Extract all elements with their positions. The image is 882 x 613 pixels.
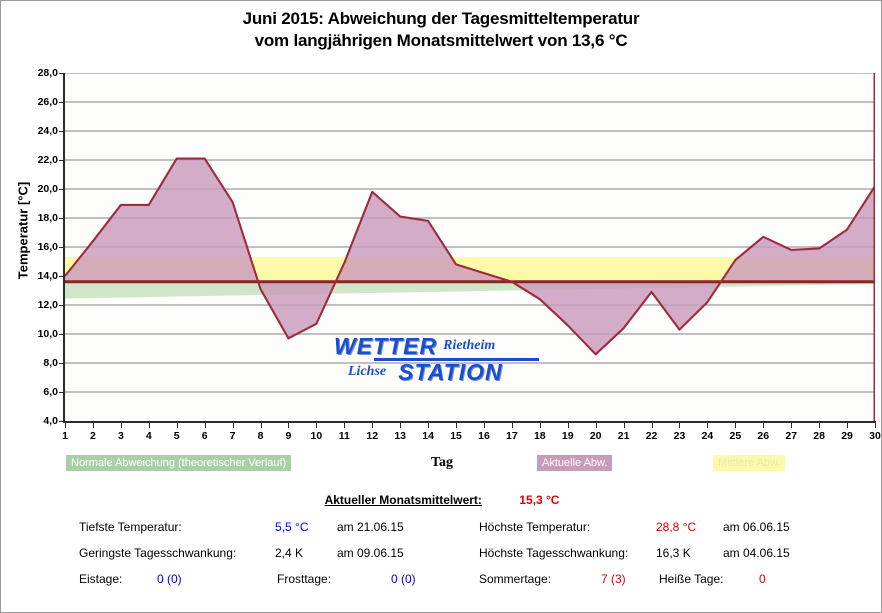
x-axis-tick: [149, 421, 150, 428]
x-axis-tick-label: 14: [422, 430, 434, 442]
y-axis-tick-label: 4,0: [43, 415, 58, 427]
y-axis-tick-label: 20,0: [38, 183, 58, 195]
x-axis-tick-label: 29: [841, 430, 853, 442]
x-axis-tick: [372, 421, 373, 428]
counters-row: Eistage: 0 (0) Frosttage: 0 (0) Sommerta…: [1, 572, 882, 598]
highest-temp-label: Höchste Temperatur:: [479, 520, 590, 534]
lowest-temp-date: am 21.06.15: [337, 520, 404, 534]
x-axis-tick: [233, 421, 234, 428]
y-axis-tick-label: 14,0: [38, 270, 58, 282]
x-axis-tick-label: 7: [230, 430, 236, 442]
x-axis-tick-label: 1: [62, 430, 68, 442]
x-axis-tick: [875, 421, 876, 428]
x-axis-tick: [652, 421, 653, 428]
x-axis-tick: [177, 421, 178, 428]
y-axis-tick: [59, 334, 65, 335]
x-axis-tick: [428, 421, 429, 428]
x-axis-tick: [512, 421, 513, 428]
chart-legend: Normale Abweichung (theoretischer Verlau…: [1, 453, 882, 477]
lowest-range-date: am 09.06.15: [337, 546, 404, 560]
x-axis-tick: [791, 421, 792, 428]
x-axis-tick: [344, 421, 345, 428]
sommertage-value: 7 (3): [601, 572, 626, 586]
title-line-2: vom langjährigen Monatsmittelwert von 13…: [1, 30, 881, 52]
statistics-panel: Aktueller Monatsmittelwert: 15,3 °C Tief…: [1, 493, 882, 598]
x-axis-tick-label: 23: [674, 430, 686, 442]
x-axis-tick-label: 22: [646, 430, 658, 442]
x-axis-tick: [624, 421, 625, 428]
x-axis-tick: [400, 421, 401, 428]
x-axis-tick: [288, 421, 289, 428]
x-axis-tick-label: 12: [366, 430, 378, 442]
lowest-temp-label: Tiefste Temperatur:: [79, 520, 182, 534]
sommertage-label: Sommertage:: [479, 572, 551, 586]
x-axis-tick: [484, 421, 485, 428]
x-axis-tick: [819, 421, 820, 428]
x-axis-tick-label: 2: [90, 430, 96, 442]
y-axis-tick: [59, 276, 65, 277]
highest-range-label: Höchste Tagesschwankung:: [479, 546, 628, 560]
y-axis-tick: [59, 189, 65, 190]
x-axis-tick: [847, 421, 848, 428]
x-axis-tick: [679, 421, 680, 428]
x-axis-tick-label: 18: [534, 430, 546, 442]
x-axis-tick-label: 21: [618, 430, 630, 442]
heisse-tage-value: 0: [759, 572, 766, 586]
chart-svg: [65, 73, 875, 421]
x-axis-tick: [540, 421, 541, 428]
x-axis-tick-label: 25: [730, 430, 742, 442]
x-axis-tick: [261, 421, 262, 428]
x-axis-tick-label: 17: [506, 430, 518, 442]
x-axis-tick-label: 10: [311, 430, 323, 442]
plot-canvas: 4,06,08,010,012,014,016,018,020,022,024,…: [63, 73, 875, 423]
x-axis-tick: [65, 421, 66, 428]
monthly-mean-label: Aktueller Monatsmittelwert:: [325, 493, 482, 507]
y-axis-tick: [59, 218, 65, 219]
highest-range-value: 16,3 K: [656, 546, 691, 560]
x-axis-tick-label: 4: [146, 430, 152, 442]
x-axis-tick-label: 30: [869, 430, 881, 442]
y-axis-tick-label: 24,0: [38, 125, 58, 137]
y-axis-tick-label: 18,0: [38, 212, 58, 224]
frosttage-label: Frosttage:: [277, 572, 331, 586]
x-axis-tick-label: 27: [785, 430, 797, 442]
x-axis-tick: [205, 421, 206, 428]
title-line-1: Juni 2015: Abweichung der Tagesmitteltem…: [1, 8, 881, 30]
x-axis-tick: [93, 421, 94, 428]
x-axis-tick-label: 3: [118, 430, 124, 442]
y-axis-tick: [59, 392, 65, 393]
page-title: Juni 2015: Abweichung der Tagesmitteltem…: [1, 1, 881, 52]
x-axis-tick: [568, 421, 569, 428]
eistage-label: Eistage:: [79, 572, 122, 586]
y-axis-tick-label: 8,0: [43, 357, 58, 369]
chart-area: Temperatur [°C] 4,06,08,010,012,014,016,…: [1, 63, 882, 443]
highest-temp-date: am 06.06.15: [723, 520, 790, 534]
x-axis-tick-label: 20: [590, 430, 602, 442]
y-axis-tick: [59, 73, 65, 74]
lowest-range-label: Geringste Tagesschwankung:: [79, 546, 236, 560]
y-axis-title: Temperatur [°C]: [16, 151, 31, 311]
legend-item-aktuelle-abweichung: Aktuelle Abw.: [537, 455, 612, 471]
legend-item-mittlere-abweichung: Mittlere Abw.: [713, 455, 785, 471]
x-axis-tick-label: 15: [450, 430, 462, 442]
eistage-value: 0 (0): [157, 572, 182, 586]
table-row: Tiefste Temperatur: 5,5 °C am 21.06.15 H…: [1, 520, 882, 546]
y-axis-tick: [59, 363, 65, 364]
x-axis-tick: [707, 421, 708, 428]
x-axis-tick-label: 19: [562, 430, 574, 442]
y-axis-tick-label: 6,0: [43, 386, 58, 398]
y-axis-tick-label: 26,0: [38, 96, 58, 108]
y-axis-tick: [59, 131, 65, 132]
y-axis-tick-label: 12,0: [38, 299, 58, 311]
y-axis-tick: [59, 247, 65, 248]
y-axis-tick-label: 28,0: [38, 67, 58, 79]
x-axis-tick-label: 6: [202, 430, 208, 442]
x-axis-tick-label: 28: [813, 430, 825, 442]
heisse-tage-label: Heiße Tage:: [659, 572, 723, 586]
lowest-range-value: 2,4 K: [275, 546, 303, 560]
monthly-mean-row: Aktueller Monatsmittelwert: 15,3 °C: [1, 493, 882, 520]
x-axis-tick: [456, 421, 457, 428]
x-axis-tick: [121, 421, 122, 428]
table-row: Geringste Tagesschwankung: 2,4 K am 09.0…: [1, 546, 882, 572]
y-axis-tick: [59, 160, 65, 161]
y-axis-tick: [59, 305, 65, 306]
y-axis-tick-label: 10,0: [38, 328, 58, 340]
x-axis-tick: [735, 421, 736, 428]
x-axis-tick-label: 16: [478, 430, 490, 442]
x-axis-tick: [596, 421, 597, 428]
x-axis-tick-label: 9: [286, 430, 292, 442]
x-axis-tick-label: 8: [258, 430, 264, 442]
highest-range-date: am 04.06.15: [723, 546, 790, 560]
x-axis-tick-label: 5: [174, 430, 180, 442]
frosttage-value: 0 (0): [391, 572, 416, 586]
x-axis-tick: [316, 421, 317, 428]
x-axis-tick-label: 11: [339, 430, 350, 442]
y-axis-tick: [59, 102, 65, 103]
x-axis-tick-label: 26: [757, 430, 769, 442]
x-axis-tick-label: 13: [394, 430, 406, 442]
monthly-mean-value: 15,3 °C: [519, 493, 559, 507]
y-axis-tick-label: 16,0: [38, 241, 58, 253]
x-axis-tick-label: 24: [702, 430, 714, 442]
x-axis-tick: [763, 421, 764, 428]
y-axis-tick-label: 22,0: [38, 154, 58, 166]
lowest-temp-value: 5,5 °C: [275, 520, 308, 534]
highest-temp-value: 28,8 °C: [656, 520, 696, 534]
